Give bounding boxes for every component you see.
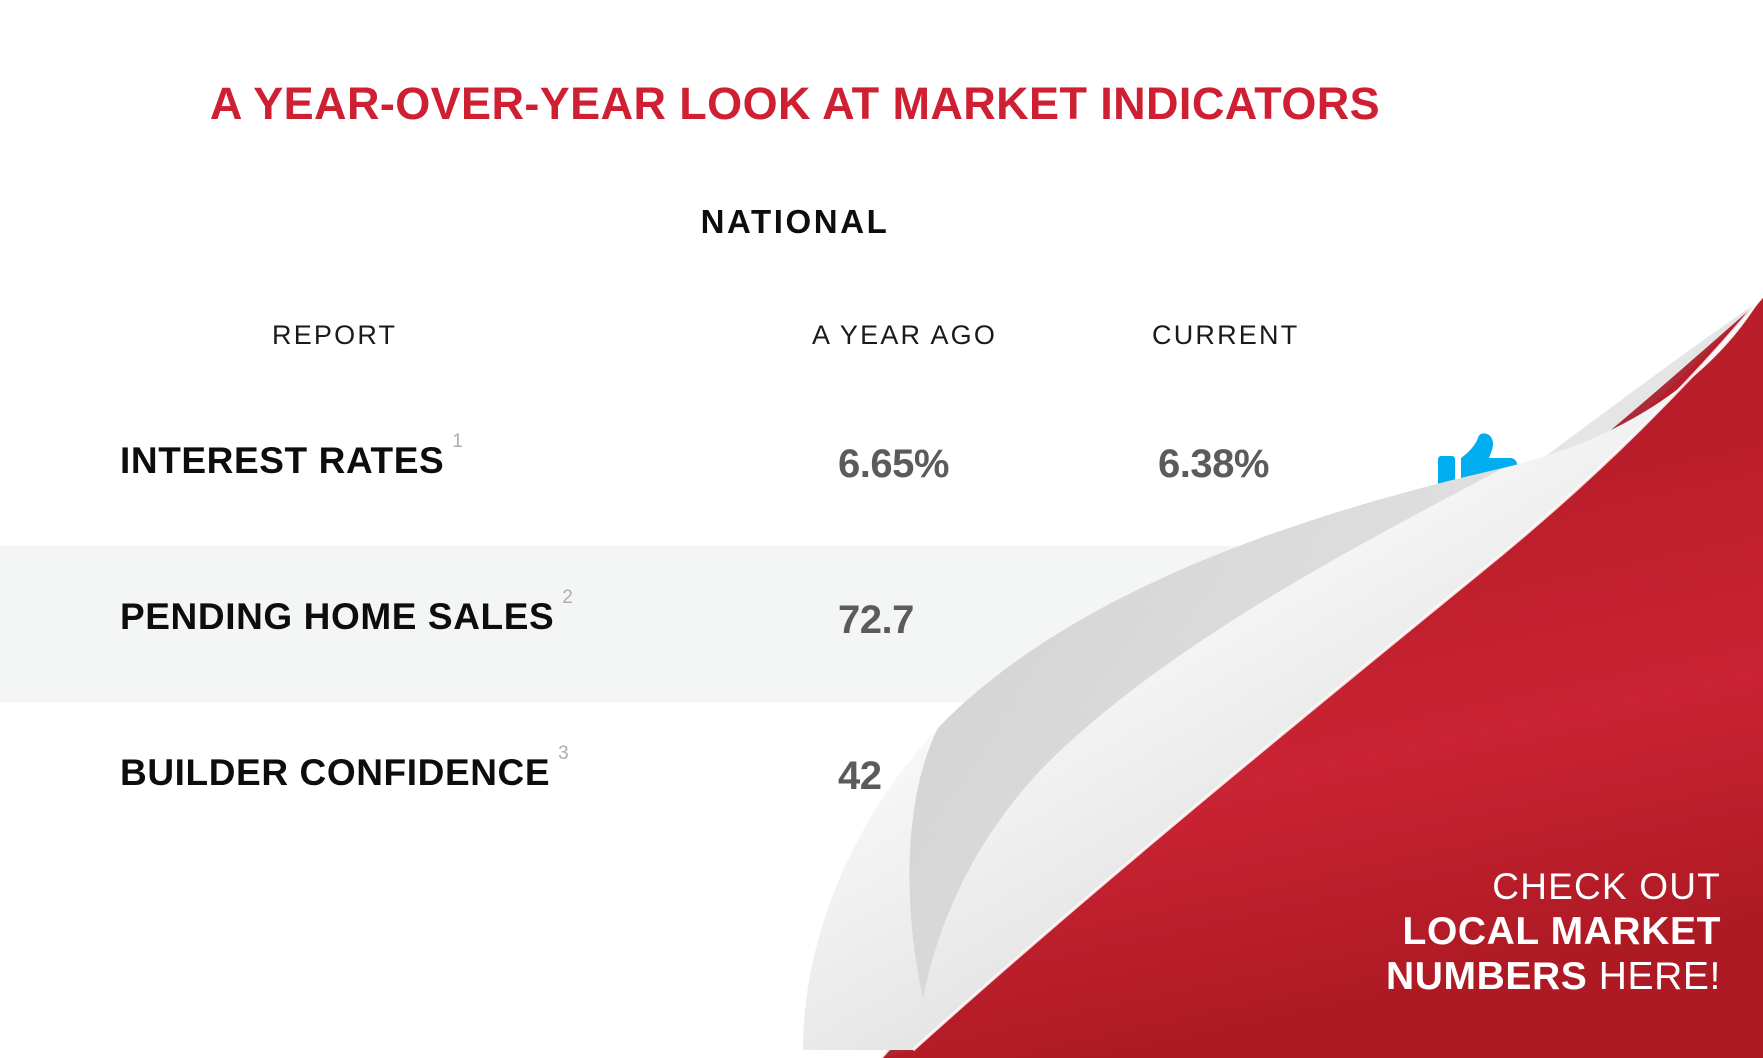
market-indicators-table: REPORT A YEAR AGO CURRENT INTEREST RATES…	[0, 320, 1590, 858]
cta-line-local-market: LOCAL MARKET	[1386, 909, 1721, 955]
table-header-row: REPORT A YEAR AGO CURRENT	[0, 320, 1590, 390]
infographic-canvas: A YEAR-OVER-YEAR LOOK AT MARKET INDICATO…	[0, 0, 1763, 1058]
cta-here-text: HERE!	[1587, 955, 1721, 998]
thumbs-up-icon	[1438, 432, 1518, 504]
row-value-current: 72.1	[1158, 598, 1234, 643]
thumbs-down-icon	[1438, 588, 1518, 660]
footnote-marker: 1	[452, 431, 463, 452]
row-value-current: 6.38%	[1158, 442, 1269, 487]
table-row: INTEREST RATES1 6.65% 6.38%	[0, 390, 1590, 546]
cta-line-numbers-here: NUMBERS HERE!	[1386, 954, 1721, 1000]
row-label-builder-confidence: BUILDER CONFIDENCE3	[120, 752, 561, 794]
column-header-report: REPORT	[272, 320, 397, 351]
table-row: BUILDER CONFIDENCE3 42	[0, 702, 1590, 858]
row-label-pending-home-sales: PENDING HOME SALES2	[120, 596, 565, 638]
table-row: PENDING HOME SALES2 72.7 72.1	[0, 546, 1590, 702]
cta-line-check-out: CHECK OUT	[1386, 865, 1721, 908]
cta-local-market-numbers[interactable]: CHECK OUT LOCAL MARKET NUMBERS HERE!	[1386, 865, 1721, 1000]
section-heading-national: NATIONAL	[0, 203, 1590, 241]
footnote-marker: 2	[562, 587, 573, 608]
column-header-current: CURRENT	[1152, 320, 1299, 351]
row-label-interest-rates: INTEREST RATES1	[120, 440, 455, 482]
cta-numbers-bold: NUMBERS	[1386, 955, 1587, 998]
page-title: A YEAR-OVER-YEAR LOOK AT MARKET INDICATO…	[0, 78, 1590, 130]
column-header-year-ago: A YEAR AGO	[812, 320, 997, 351]
row-value-year-ago: 72.7	[838, 598, 914, 643]
row-value-year-ago: 42	[838, 754, 882, 799]
footnote-marker: 3	[558, 743, 569, 764]
row-value-year-ago: 6.65%	[838, 442, 949, 487]
